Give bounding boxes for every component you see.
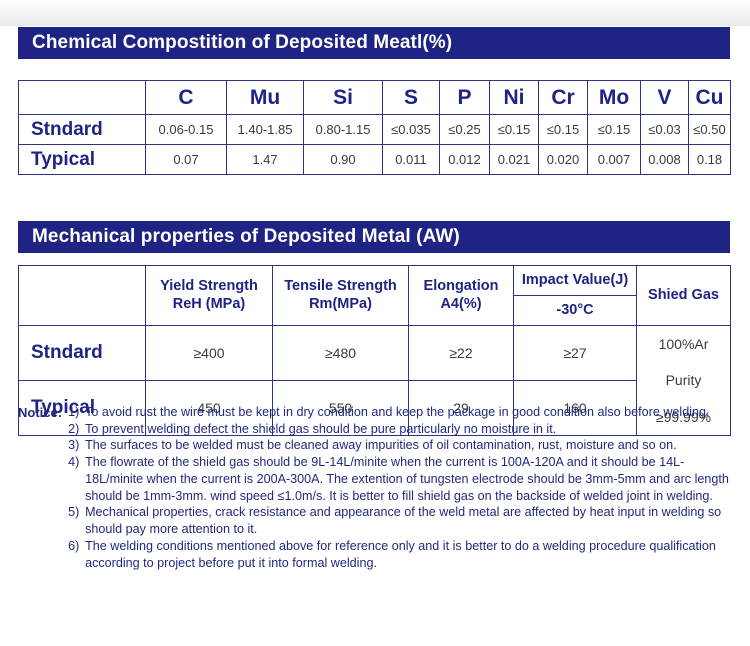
table-row: Stndard 0.06-0.15 1.40-1.85 0.80-1.15 ≤0… <box>19 115 731 145</box>
table-header-row: C Mu Si S P Ni Cr Mo V Cu <box>19 81 731 115</box>
notice-item-text: To avoid rust the wire must be kept in d… <box>85 404 734 421</box>
chem-row-label-typical: Typical <box>19 145 146 175</box>
chem-cell: ≤0.25 <box>440 115 490 145</box>
chem-col-mo: Mo <box>588 81 641 115</box>
chem-col-c: C <box>146 81 227 115</box>
mech-col-tensile-line2: Rm(MPa) <box>275 296 406 313</box>
notice-label: Notice: <box>18 404 68 421</box>
list-item: 4) The flowrate of the shield gas should… <box>68 454 734 504</box>
chem-cell: 0.008 <box>641 145 689 175</box>
notice-block: Notice: 1) To avoid rust the wire must b… <box>18 404 734 571</box>
section-header-chemical: Chemical Compostition of Deposited Meatl… <box>18 27 730 59</box>
table-header-row-1: Yield Strength ReH (MPa) Tensile Strengt… <box>19 266 731 296</box>
chem-cell: ≤0.15 <box>539 115 588 145</box>
mech-col-tensile-line1: Tensile Strength <box>275 278 406 295</box>
mech-col-yield-line2: ReH (MPa) <box>148 296 270 313</box>
notice-item-text: The surfaces to be welded must be cleane… <box>85 437 734 454</box>
chem-col-cu: Cu <box>689 81 731 115</box>
chem-cell: 1.47 <box>227 145 304 175</box>
shield-gas-line1: 100%Ar <box>637 326 730 362</box>
chem-cell: ≤0.15 <box>490 115 539 145</box>
chem-cell: 0.007 <box>588 145 641 175</box>
datasheet-page: Chemical Compostition of Deposited Meatl… <box>0 0 750 646</box>
notice-item-number: 5) <box>68 504 85 521</box>
chem-col-ni: Ni <box>490 81 539 115</box>
notice-item-number: 3) <box>68 437 85 454</box>
chem-cell: ≤0.15 <box>588 115 641 145</box>
mech-col-impact-value: Impact Value(J) <box>514 266 637 296</box>
chem-cell: 0.18 <box>689 145 731 175</box>
notice-item-number: 1) <box>68 404 85 421</box>
mech-col-yield-line1: Yield Strength <box>148 278 270 295</box>
chem-col-s: S <box>383 81 440 115</box>
mech-col-elongation-line2: A4(%) <box>411 296 511 313</box>
mech-col-elongation-line1: Elongation <box>411 278 511 295</box>
chem-cell: 0.06-0.15 <box>146 115 227 145</box>
list-item: 2) To prevent welding defect the shield … <box>68 421 734 438</box>
list-item: 1) To avoid rust the wire must be kept i… <box>68 404 734 421</box>
chem-cell: 0.90 <box>304 145 383 175</box>
top-gradient-band <box>0 0 750 26</box>
list-item: 6) The welding conditions mentioned abov… <box>68 538 734 571</box>
chem-col-v: V <box>641 81 689 115</box>
chem-col-cr: Cr <box>539 81 588 115</box>
mech-col-blank <box>19 266 146 326</box>
chem-cell: ≤0.03 <box>641 115 689 145</box>
notice-item-text: Mechanical properties, crack resistance … <box>85 504 734 537</box>
mech-col-yield-strength: Yield Strength ReH (MPa) <box>146 266 273 326</box>
table-row: Typical 0.07 1.47 0.90 0.011 0.012 0.021… <box>19 145 731 175</box>
list-item: 5) Mechanical properties, crack resistan… <box>68 504 734 537</box>
notice-item-text: To prevent welding defect the shield gas… <box>85 421 734 438</box>
mech-cell-impact: ≥27 <box>514 326 637 381</box>
mech-col-tensile-strength: Tensile Strength Rm(MPa) <box>273 266 409 326</box>
mech-col-elongation: Elongation A4(%) <box>409 266 514 326</box>
notice-list: 1) To avoid rust the wire must be kept i… <box>68 404 734 571</box>
chem-cell: 0.011 <box>383 145 440 175</box>
chemical-composition-table: C Mu Si S P Ni Cr Mo V Cu Stndard 0.06-0… <box>18 80 731 175</box>
notice-item-number: 4) <box>68 454 85 471</box>
chem-col-blank <box>19 81 146 115</box>
mech-cell-tensile: ≥480 <box>273 326 409 381</box>
chem-cell: 0.012 <box>440 145 490 175</box>
chem-col-p: P <box>440 81 490 115</box>
mech-row-label-standard: Stndard <box>19 326 146 381</box>
notice-item-text: The welding conditions mentioned above f… <box>85 538 734 571</box>
section-header-mechanical: Mechanical properties of Deposited Metal… <box>18 221 730 253</box>
chem-cell: ≤0.50 <box>689 115 731 145</box>
chem-cell: 0.020 <box>539 145 588 175</box>
chem-col-si: Si <box>304 81 383 115</box>
mech-cell-elongation: ≥22 <box>409 326 514 381</box>
chem-col-mu: Mu <box>227 81 304 115</box>
notice-item-number: 2) <box>68 421 85 438</box>
chem-cell: 0.021 <box>490 145 539 175</box>
chem-cell: 1.40-1.85 <box>227 115 304 145</box>
mech-cell-yield: ≥400 <box>146 326 273 381</box>
notice-item-number: 6) <box>68 538 85 555</box>
chem-cell: ≤0.035 <box>383 115 440 145</box>
mech-col-impact-temperature: -30°C <box>514 296 637 326</box>
table-row: Stndard ≥400 ≥480 ≥22 ≥27 100%Ar Purity … <box>19 326 731 381</box>
chem-cell: 0.07 <box>146 145 227 175</box>
notice-item-text: The flowrate of the shield gas should be… <box>85 454 734 504</box>
mech-col-shield-gas: Shied Gas <box>637 266 731 326</box>
chem-row-label-standard: Stndard <box>19 115 146 145</box>
chem-cell: 0.80-1.15 <box>304 115 383 145</box>
list-item: 3) The surfaces to be welded must be cle… <box>68 437 734 454</box>
